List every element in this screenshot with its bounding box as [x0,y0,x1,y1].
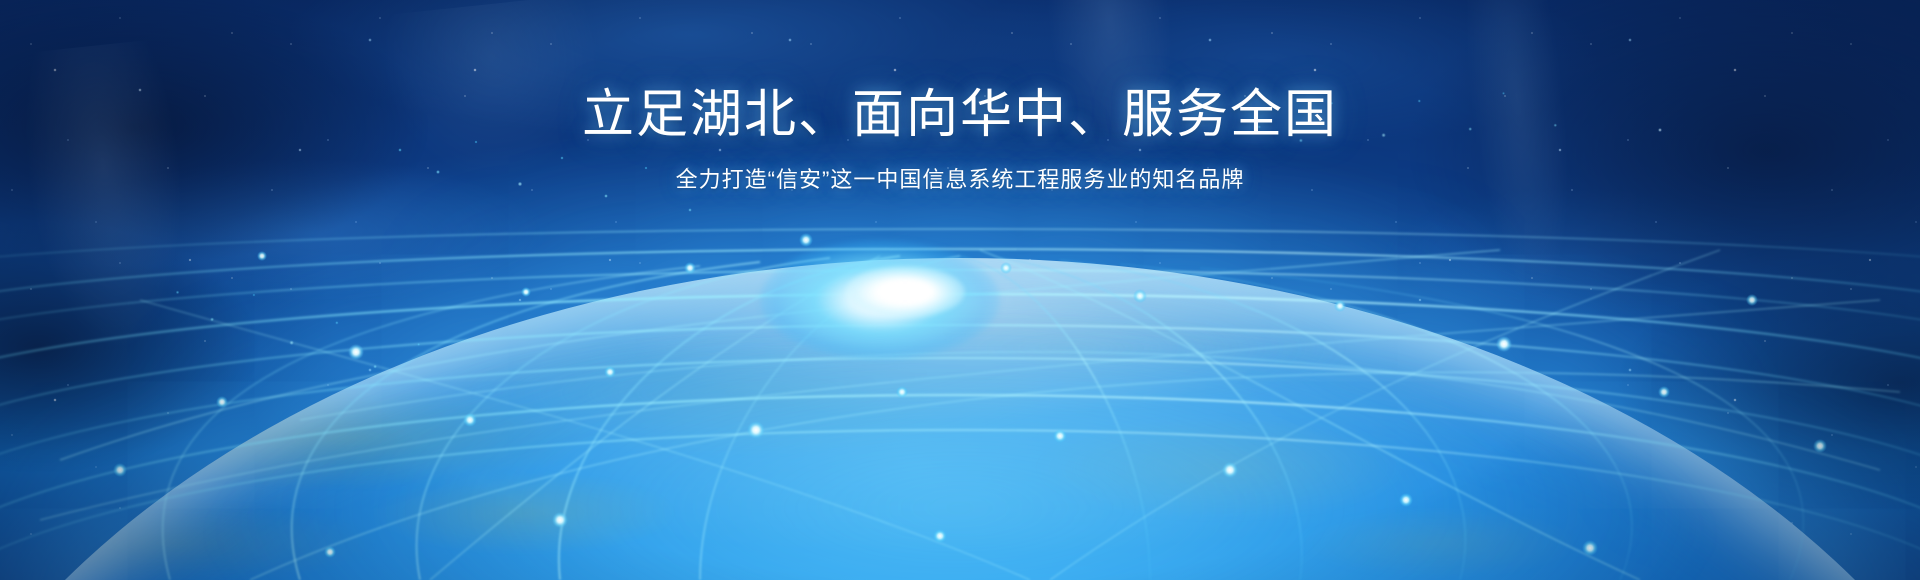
banner-subline: 全力打造“信安”这一中国信息系统工程服务业的知名品牌 [0,166,1920,194]
banner-text-block: 立足湖北、面向华中、服务全国 全力打造“信安”这一中国信息系统工程服务业的知名品… [0,86,1920,194]
banner-headline: 立足湖北、面向华中、服务全国 [0,86,1920,144]
central-light-core [845,266,965,318]
hero-banner: 立足湖北、面向华中、服务全国 全力打造“信安”这一中国信息系统工程服务业的知名品… [0,0,1920,580]
